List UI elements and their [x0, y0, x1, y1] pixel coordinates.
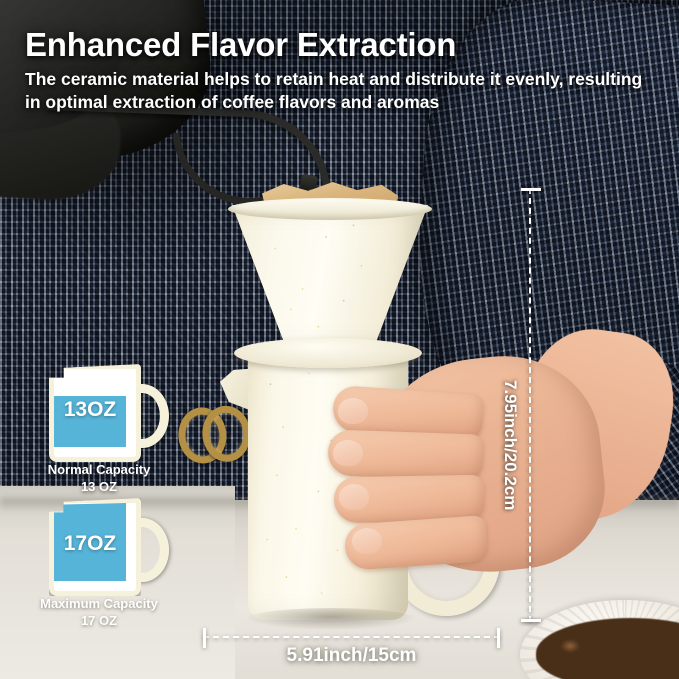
capacity-value: 17OZ [54, 532, 126, 556]
dimension-cap-bottom [521, 619, 541, 622]
capacity-caption-line1: Normal Capacity [14, 462, 184, 479]
capacity-caption: Maximum Capacity 17 OZ [14, 596, 184, 630]
mug-lid [234, 338, 422, 368]
fingernail [352, 528, 382, 554]
product-marketing-image: Enhanced Flavor Extraction The ceramic m… [0, 0, 679, 679]
fingernail [333, 440, 363, 466]
width-dimension-label: 5.91inch/15cm [203, 645, 500, 667]
fingernail [339, 484, 369, 510]
mug-shadow [246, 608, 416, 630]
capacity-caption-line1: Maximum Capacity [14, 596, 184, 613]
capacity-caption: Normal Capacity 13 OZ [14, 462, 184, 496]
capacity-caption-line2: 17 OZ [14, 613, 184, 630]
capacity-badge-maximum: 17OZ Maximum Capacity 17 OZ [14, 494, 184, 630]
dimension-dashed-line [529, 188, 531, 622]
pitcher-icon: 17OZ [43, 494, 155, 592]
capacity-value: 13OZ [54, 398, 126, 422]
gold-buckle-icon [176, 403, 241, 455]
capacity-badge-normal: 13OZ Normal Capacity 13 OZ [14, 360, 184, 496]
page-subtitle: The ceramic material helps to retain hea… [25, 68, 661, 115]
page-title: Enhanced Flavor Extraction [25, 26, 645, 64]
dripper-rim [228, 198, 432, 220]
pitcher-icon: 13OZ [43, 360, 155, 458]
height-dimension-label: 7.95inch/20.2cm [500, 380, 520, 510]
dimension-dashed-line [203, 636, 500, 638]
fingernail [338, 398, 368, 424]
dimension-cap-top [521, 188, 541, 191]
